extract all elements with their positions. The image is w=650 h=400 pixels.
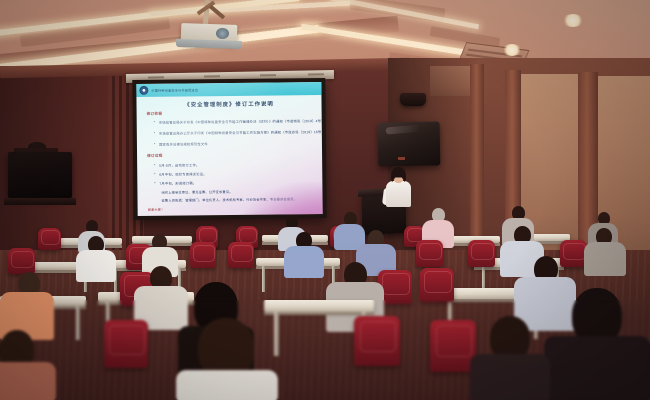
slide-org-line: 中国特种设备安全与节能促进会 (151, 87, 198, 92)
wall-monitor-left (8, 152, 72, 198)
wall-tv-right (378, 121, 441, 166)
downlight-icon (502, 44, 522, 56)
presenter-body (386, 181, 411, 207)
speaker-icon (400, 93, 426, 106)
organization-logo-icon (139, 86, 148, 95)
chair (416, 240, 443, 267)
chair (468, 240, 495, 267)
chair (190, 242, 216, 268)
slide-bullet: 市场监管总局关于印发《中国特种设备安全与节能工作管理办法（试行）》的通知（市监特… (159, 118, 323, 125)
downlight-icon (562, 14, 584, 27)
projection-screen: 中国特种设备安全与节能促进会 《安全管理制度》修订工作说明 修订依据 市场监管总… (136, 82, 322, 216)
slide-note: 组织上报单位审议、意见征集、公开征求意见。 (161, 189, 232, 195)
slide-bullet: 5月-6月，启动修订工作。 (159, 162, 199, 167)
chair (104, 320, 148, 368)
chair (8, 248, 35, 274)
slide-bullet: 6月中旬，组织专家座谈论证。 (159, 171, 207, 176)
slide-bullet: 7月中旬，形成修订稿。 (159, 180, 196, 185)
slide-footer: 谢谢大家！ (148, 207, 165, 212)
slide-bullet: 市场监管总局办公厅关于印发《中国特种设备安全与节能工作实施方案》的通知（市监办设… (159, 129, 323, 136)
slide-section-heading: 修订依据 (147, 112, 163, 117)
chair (38, 228, 61, 250)
chair (228, 242, 254, 268)
slide-corner-gradient (242, 182, 322, 216)
table (264, 300, 374, 312)
tv-indicator-light (398, 157, 405, 160)
projector-lens-icon (216, 28, 229, 39)
slide-title: 《安全管理制度》修订工作说明 (136, 99, 321, 109)
slide-bullet: 国家有关法律法规和规范性文件 (159, 141, 208, 147)
chair (420, 268, 454, 302)
slide-section-heading: 修订过程 (147, 154, 163, 159)
monitor-shelf (4, 198, 76, 205)
meeting-room-photo: 中国特种设备安全与节能促进会 《安全管理制度》修订工作说明 修订依据 市场监管总… (0, 0, 650, 400)
chair (560, 240, 587, 267)
chair (354, 316, 400, 366)
